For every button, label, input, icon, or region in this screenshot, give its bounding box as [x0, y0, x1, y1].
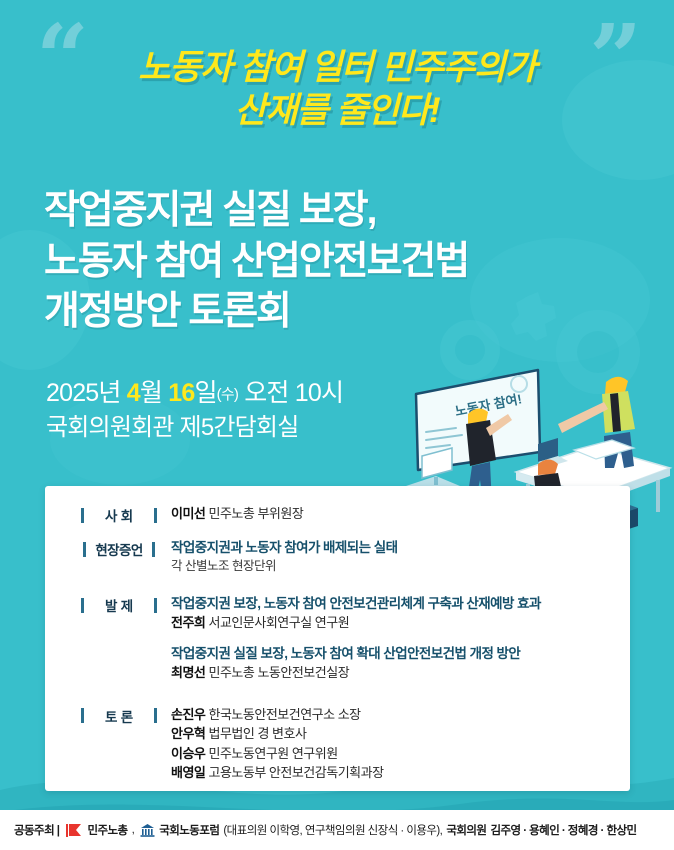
event-month-unit: 월	[140, 379, 162, 407]
program-person: 손진우 한국노동안전보건연구소 소장	[171, 705, 608, 725]
footer-organizers: 공동주최 | 민주노총 , 국회노동포럼 (대표의원 이학영, 연구책임의원 신…	[14, 822, 637, 838]
program-title: 작업중지권 보장, 노동자 참여 안전보건관리체계 구축과 산재예방 효과	[171, 594, 608, 613]
program-row-testimony: 현장증언 작업중지권과 노동자 참여가 배제되는 실태 각 산별노조 현장단위	[67, 538, 608, 575]
program-card: 사 회 이미선 민주노총 부위원장 현장증언 작	[45, 486, 630, 791]
event-venue: 국회의원회관 제5간담회실	[46, 411, 343, 444]
event-year: 2025년	[46, 379, 121, 407]
title-line-3: 개정방안 토론회	[44, 287, 468, 338]
footer-org-3-names: 김주영 · 용혜인 · 정혜경 · 한상민	[490, 822, 636, 838]
footer-comma: ,	[132, 824, 135, 836]
person-affiliation: 고용노동부 안전보건감독기획과장	[209, 765, 384, 780]
program-entry: 작업중지권 실질 보장, 노동자 참여 확대 산업안전보건법 개정 방안 최명선…	[171, 644, 608, 683]
program-entry: 작업중지권과 노동자 참여가 배제되는 실태 각 산별노조 현장단위	[171, 538, 608, 575]
title-line-2: 노동자 참여 산업안전보건법	[44, 237, 468, 288]
program-body-testimony: 작업중지권과 노동자 참여가 배제되는 실태 각 산별노조 현장단위	[171, 538, 608, 575]
person-name: 안우혁	[171, 726, 205, 741]
footer-org-3-label: 국회의원	[446, 822, 486, 838]
person-name: 손진우	[171, 707, 205, 722]
program-entry: 이미선 민주노총 부위원장	[171, 504, 608, 524]
program-label-host: 사 회	[67, 504, 171, 525]
footer-org-2: 국회노동포럼	[159, 822, 219, 838]
title-line-1: 작업중지권 실질 보장,	[44, 186, 468, 237]
person-name: 이승우	[171, 746, 205, 761]
label-bar-left-icon	[81, 508, 84, 523]
footer-org-1: 민주노총	[87, 822, 127, 838]
headline-line-1: 노동자 참여 일터 민주주의가	[138, 48, 536, 87]
event-day-number: 16	[168, 379, 194, 407]
page-title: 작업중지권 실질 보장, 노동자 참여 산업안전보건법 개정방안 토론회	[44, 186, 468, 338]
program-label-testimony: 현장증언	[67, 538, 171, 559]
program-person: 최명선 민주노총 노동안전보건실장	[171, 663, 608, 683]
person-affiliation: 법무법인 경 변호사	[209, 726, 307, 741]
person-affiliation: 민주노총 부위원장	[209, 506, 304, 521]
program-subtitle: 각 산별노조 현장단위	[171, 557, 608, 575]
event-time: 오전 10시	[244, 379, 343, 407]
program-person: 이승우 민주노동연구원 연구위원	[171, 744, 608, 764]
program-person: 안우혁 법무법인 경 변호사	[171, 724, 608, 744]
program-entry: 작업중지권 보장, 노동자 참여 안전보건관리체계 구축과 산재예방 효과 전주…	[171, 594, 608, 633]
event-meta: 2025년 4월 16일(수) 오전 10시 국회의원회관 제5간담회실	[46, 376, 343, 444]
label-bar-right-icon	[154, 598, 157, 613]
program-label-presentation: 발 제	[67, 594, 171, 615]
footer-org-2-detail: (대표의원 이학영, 연구책임의원 신장식 · 이용우),	[223, 822, 442, 838]
program-row-host: 사 회 이미선 민주노총 부위원장	[67, 504, 608, 525]
person-affiliation: 민주노총 노동안전보건실장	[209, 665, 350, 680]
label-bar-left-icon	[83, 542, 86, 557]
footer-lead-label: 공동주최 |	[14, 822, 59, 838]
program-body-panel: 손진우 한국노동안전보건연구소 소장 안우혁 법무법인 경 변호사 이승우 민주…	[171, 705, 608, 783]
program-body-presentation: 작업중지권 보장, 노동자 참여 안전보건관리체계 구축과 산재예방 효과 전주…	[171, 594, 608, 682]
program-body-host: 이미선 민주노총 부위원장	[171, 504, 608, 524]
program-row-panel: 토 론 손진우 한국노동안전보건연구소 소장 안우혁 법무법인 경 변호사 이승…	[67, 705, 608, 783]
footer-bar: 공동주최 | 민주노총 , 국회노동포럼 (대표의원 이학영, 연구책임의원 신…	[0, 810, 674, 850]
headline-line-2: 산재를 줄인다!	[64, 89, 610, 132]
minjunochong-flag-icon	[66, 824, 83, 837]
person-name: 이미선	[171, 506, 205, 521]
person-name: 최명선	[171, 665, 205, 680]
gear-shape	[511, 292, 556, 341]
label-bar-right-icon	[152, 542, 155, 557]
poster-root: “ ” 노동자 참여 일터 민주주의가 산재를 줄인다! 작업중지권 실질 보장…	[0, 0, 674, 850]
program-label-panel: 토 론	[67, 705, 171, 726]
label-bar-right-icon	[154, 508, 157, 523]
label-bar-left-icon	[81, 708, 84, 723]
event-month-number: 4	[127, 379, 140, 407]
person-name: 배영일	[171, 765, 205, 780]
person-name: 전주희	[171, 615, 205, 630]
national-assembly-building-icon	[140, 824, 155, 837]
program-label-text: 현장증언	[95, 539, 142, 559]
program-label-text: 토 론	[93, 706, 145, 726]
program-label-text: 발 제	[93, 595, 145, 615]
program-title: 작업중지권 실질 보장, 노동자 참여 확대 산업안전보건법 개정 방안	[171, 644, 608, 663]
person-affiliation: 서교인문사회연구실 연구원	[209, 615, 350, 630]
program-label-text: 사 회	[93, 505, 145, 525]
person-affiliation: 한국노동안전보건연구소 소장	[209, 707, 361, 722]
event-weekday: (수)	[217, 386, 238, 403]
program-person: 배영일 고용노동부 안전보건감독기획과장	[171, 763, 608, 783]
program-person: 전주희 서교인문사회연구실 연구원	[171, 613, 608, 633]
label-bar-left-icon	[81, 598, 84, 613]
program-row-presentation: 발 제 작업중지권 보장, 노동자 참여 안전보건관리체계 구축과 산재예방 효…	[67, 594, 608, 682]
event-day-unit: 일	[194, 379, 216, 407]
program-title: 작업중지권과 노동자 참여가 배제되는 실태	[171, 538, 608, 557]
headline: 노동자 참여 일터 민주주의가 산재를 줄인다!	[0, 46, 674, 133]
person-affiliation: 민주노동연구원 연구위원	[209, 746, 338, 761]
program-person: 이미선 민주노총 부위원장	[171, 504, 608, 524]
label-bar-right-icon	[154, 708, 157, 723]
